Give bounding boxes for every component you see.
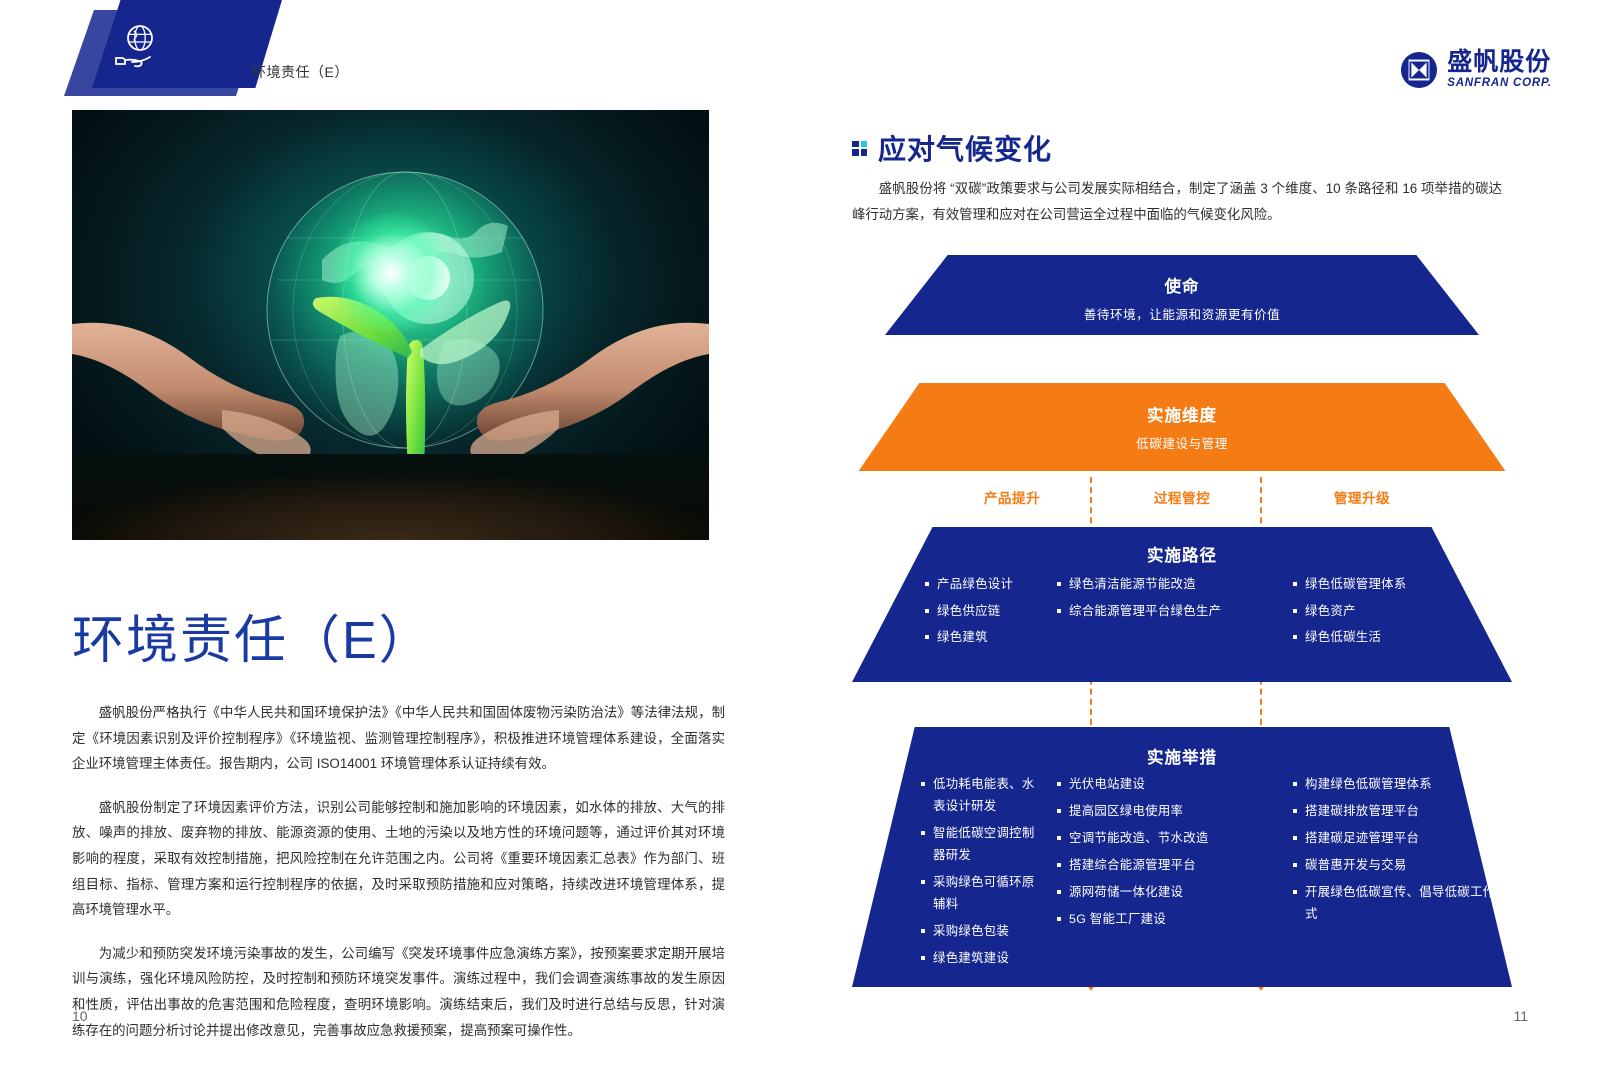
section-intro: 盛帆股份将 “双碳”政策要求与公司发展实际相结合，制定了涵盖 3 个维度、10 … (852, 176, 1502, 228)
dimension-subtitle: 低碳建设与管理 (852, 433, 1512, 452)
list-item: 绿色建筑 (924, 626, 1042, 649)
paragraph-3: 为减少和预防突发环境污染事故的发生，公司编写《突发环境事件应急演练方案》，按预案… (72, 941, 725, 1043)
list-item: 构建绿色低碳管理体系 (1292, 773, 1512, 795)
pyramid-level-mission: 使命 善待环境，让能源和资源更有价值 (852, 255, 1512, 335)
logo-name-en: SANFRAN CORP. (1447, 78, 1552, 90)
list-item: 光伏电站建设 (1056, 773, 1266, 795)
list-item: 搭建碳足迹管理平台 (1292, 827, 1512, 849)
list-item: 5G 智能工厂建设 (1056, 908, 1266, 930)
section-title: 应对气候变化 (878, 128, 1052, 168)
logo-name-cn: 盛帆股份 (1447, 50, 1552, 75)
list-item: 开展绿色低碳宣传、倡导低碳工作方式 (1292, 881, 1512, 925)
list-item: 绿色低碳管理体系 (1292, 573, 1512, 596)
list-item: 绿色低碳生活 (1292, 626, 1512, 649)
list-item: 空调节能改造、节水改造 (1056, 827, 1266, 849)
list-item: 源网荷储一体化建设 (1056, 881, 1266, 903)
section-tab: 环境责任（E） (72, 0, 392, 100)
list-item: 绿色资产 (1292, 600, 1512, 623)
list-item: 智能低碳空调控制器研发 (920, 822, 1044, 866)
mission-subtitle: 善待环境，让能源和资源更有价值 (852, 304, 1512, 323)
list-item: 绿色清洁能源节能改造 (1056, 573, 1264, 596)
measures-column-2: 光伏电站建设 提高园区绿电使用率 空调节能改造、节水改造 搭建综合能源管理平台 … (1044, 773, 1266, 974)
paragraph-2: 盛帆股份制定了环境因素评价方法，识别公司能够控制和施加影响的环境因素，如水体的排… (72, 795, 725, 923)
dimension-column-headers: 产品提升 过程管控 管理升级 (852, 487, 1512, 517)
list-item: 绿色供应链 (924, 600, 1042, 623)
page-number-right: 11 (1513, 1008, 1528, 1024)
list-item: 综合能源管理平台绿色生产 (1056, 600, 1264, 623)
paths-column-2: 绿色清洁能源节能改造 综合能源管理平台绿色生产 (1042, 573, 1264, 653)
list-item: 采购绿色可循环原辅料 (920, 871, 1044, 915)
paragraph-1: 盛帆股份严格执行《中华人民共和国环境保护法》《中华人民共和国固体废物污染防治法》… (72, 700, 725, 777)
list-item: 碳普惠开发与交易 (1292, 854, 1512, 876)
list-item: 搭建综合能源管理平台 (1056, 854, 1266, 876)
list-item: 搭建碳排放管理平台 (1292, 800, 1512, 822)
tab-label: 环境责任（E） (252, 62, 349, 82)
dimension-title: 实施维度 (852, 402, 1512, 426)
paths-column-3: 绿色低碳管理体系 绿色资产 绿色低碳生活 (1264, 573, 1512, 653)
measures-column-3: 构建绿色低碳管理体系 搭建碳排放管理平台 搭建碳足迹管理平台 碳普惠开发与交易 … (1266, 773, 1512, 974)
pyramid-level-dimension: 实施维度 低碳建设与管理 (852, 383, 1512, 471)
column-header-3: 管理升级 (1282, 487, 1442, 507)
page-number-left: 10 (72, 1008, 88, 1024)
paths-column-1: 产品绿色设计 绿色供应链 绿色建筑 (852, 573, 1042, 653)
hero-soil (72, 454, 709, 540)
carbon-peak-pyramid-diagram: 使命 善待环境，让能源和资源更有价值 实施维度 低碳建设与管理 产品提升 过程管… (852, 255, 1512, 1000)
list-item: 产品绿色设计 (924, 573, 1042, 596)
column-header-2: 过程管控 (1112, 487, 1252, 507)
globe-in-hand-icon (110, 22, 162, 70)
measures-column-1: 低功耗电能表、水表设计研发 智能低碳空调控制器研发 采购绿色可循环原辅料 采购绿… (852, 773, 1044, 974)
section-heading: 应对气候变化 (852, 128, 1052, 168)
column-header-1: 产品提升 (942, 487, 1082, 507)
page-title: 环境责任（E） (72, 598, 433, 673)
mission-title: 使命 (852, 273, 1512, 297)
list-item: 采购绿色包装 (920, 920, 1044, 942)
hero-light-glow (331, 213, 451, 333)
measures-columns: 低功耗电能表、水表设计研发 智能低碳空调控制器研发 采购绿色可循环原辅料 采购绿… (852, 773, 1512, 974)
list-item: 提高园区绿电使用率 (1056, 800, 1266, 822)
measures-title: 实施举措 (852, 727, 1512, 768)
sanfran-circle-logo-icon (1400, 51, 1438, 89)
paths-columns: 产品绿色设计 绿色供应链 绿色建筑 绿色清洁能源节能改造 综合能源管理平台绿色生… (852, 573, 1512, 653)
left-body-copy: 盛帆股份严格执行《中华人民共和国环境保护法》《中华人民共和国固体废物污染防治法》… (72, 700, 725, 1061)
company-logo: 盛帆股份 SANFRAN CORP. (1400, 50, 1552, 90)
list-item: 绿色建筑建设 (920, 947, 1044, 969)
hero-image (72, 110, 709, 540)
list-item: 低功耗电能表、水表设计研发 (920, 773, 1044, 817)
paths-title: 实施路径 (852, 527, 1512, 566)
report-spread: 环境责任（E） 盛帆股份 SANFRAN CORP. (0, 0, 1600, 1085)
four-square-bullet-icon (852, 141, 867, 156)
